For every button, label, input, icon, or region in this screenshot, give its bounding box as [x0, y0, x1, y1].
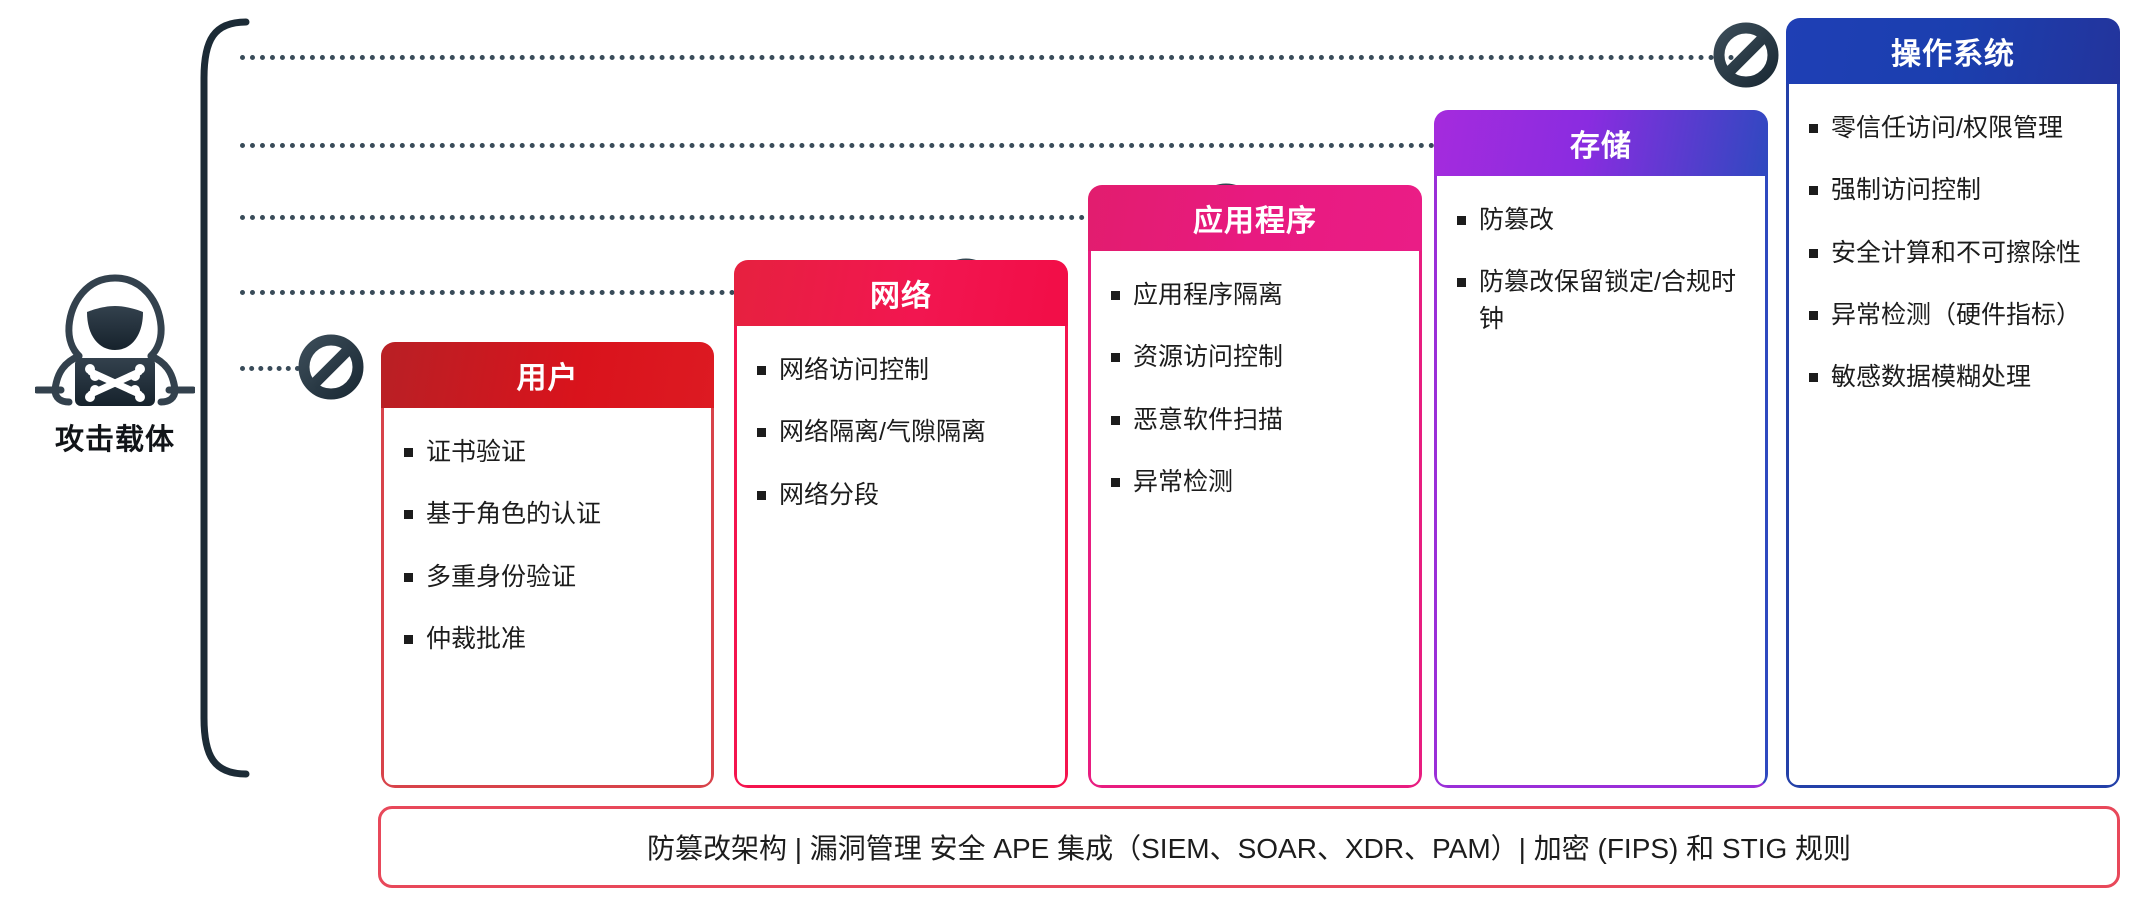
layer-card-application-title: 应用程序	[1088, 185, 1422, 251]
bullet-marker	[1809, 373, 1818, 382]
bullet-marker	[1111, 291, 1120, 300]
list-item: 防篡改保留锁定/合规时钟	[1457, 264, 1747, 337]
bullet-marker	[757, 366, 766, 375]
bullet-marker	[1457, 216, 1466, 225]
layer-card-os-title: 操作系统	[1786, 18, 2120, 84]
list-item: 零信任访问/权限管理	[1809, 110, 2099, 146]
layer-card-application[interactable]: 应用程序 应用程序隔离 资源访问控制 恶意软件扫描 异常检测	[1088, 185, 1422, 788]
layer-card-network-body: 网络访问控制 网络隔离/气隙隔离 网络分段	[734, 326, 1068, 788]
list-item: 基于角色的认证	[404, 496, 693, 532]
hacker-laptop-icon	[35, 268, 195, 408]
layer-card-storage-body: 防篡改 防篡改保留锁定/合规时钟	[1434, 176, 1768, 788]
layer-card-network-title: 网络	[734, 260, 1068, 326]
list-item: 证书验证	[404, 434, 693, 470]
foundation-banner-text: 防篡改架构 | 漏洞管理 安全 APE 集成（SIEM、SOAR、XDR、PAM…	[647, 827, 1851, 867]
bullet-marker	[1111, 416, 1120, 425]
bullet-marker	[757, 428, 766, 437]
bullet-marker	[404, 510, 413, 519]
bullet-marker	[1809, 311, 1818, 320]
bullet-marker	[1111, 353, 1120, 362]
list-item: 异常检测（硬件指标）	[1809, 297, 2099, 333]
layer-card-os-body: 零信任访问/权限管理 强制访问控制 安全计算和不可擦除性 异常检测（硬件指标） …	[1786, 84, 2120, 788]
layer-card-user-title: 用户	[381, 342, 714, 408]
bullet-marker	[404, 448, 413, 457]
list-item: 防篡改	[1457, 202, 1747, 238]
layer-card-application-body: 应用程序隔离 资源访问控制 恶意软件扫描 异常检测	[1088, 251, 1422, 788]
list-item: 资源访问控制	[1111, 339, 1401, 375]
attack-line-storage	[240, 143, 1475, 148]
no-entry-icon-user	[298, 334, 364, 400]
list-item: 网络分段	[757, 477, 1047, 513]
list-item: 恶意软件扫描	[1111, 402, 1401, 438]
list-item: 应用程序隔离	[1111, 277, 1401, 313]
layer-card-storage[interactable]: 存储 防篡改 防篡改保留锁定/合规时钟	[1434, 110, 1768, 788]
list-item: 敏感数据模糊处理	[1809, 359, 2099, 395]
security-layers-diagram: 攻击载体 用户 证书验证 基于角色的认证 多重身份验证 仲裁批准	[0, 0, 2146, 916]
list-item: 强制访问控制	[1809, 172, 2099, 208]
layer-card-user[interactable]: 用户 证书验证 基于角色的认证 多重身份验证 仲裁批准	[381, 342, 714, 788]
no-entry-icon-os	[1713, 22, 1779, 88]
bullet-marker	[404, 573, 413, 582]
attack-line-application	[240, 215, 1215, 220]
bullet-marker	[1809, 186, 1818, 195]
attack-vector-group: 攻击载体	[20, 268, 210, 458]
layer-card-storage-title: 存储	[1434, 110, 1768, 176]
list-item: 网络访问控制	[757, 352, 1047, 388]
bullet-marker	[757, 491, 766, 500]
attack-line-os	[240, 55, 1735, 60]
bullet-marker	[1809, 124, 1818, 133]
bullet-marker	[1111, 478, 1120, 487]
bullet-marker	[1457, 278, 1466, 287]
list-item: 多重身份验证	[404, 559, 693, 595]
foundation-banner: 防篡改架构 | 漏洞管理 安全 APE 集成（SIEM、SOAR、XDR、PAM…	[378, 806, 2120, 888]
bullet-marker	[404, 635, 413, 644]
attack-vector-label: 攻击载体	[20, 416, 210, 458]
attack-line-user	[240, 366, 300, 371]
list-item: 安全计算和不可擦除性	[1809, 235, 2099, 271]
layer-card-network[interactable]: 网络 网络访问控制 网络隔离/气隙隔离 网络分段	[734, 260, 1068, 788]
list-item: 仲裁批准	[404, 621, 693, 657]
layer-card-user-body: 证书验证 基于角色的认证 多重身份验证 仲裁批准	[381, 408, 714, 788]
list-item: 网络隔离/气隙隔离	[757, 414, 1047, 450]
layer-card-os[interactable]: 操作系统 零信任访问/权限管理 强制访问控制 安全计算和不可擦除性 异常检测（硬…	[1786, 18, 2120, 788]
scope-bracket	[196, 18, 256, 778]
list-item: 异常检测	[1111, 464, 1401, 500]
bullet-marker	[1809, 249, 1818, 258]
